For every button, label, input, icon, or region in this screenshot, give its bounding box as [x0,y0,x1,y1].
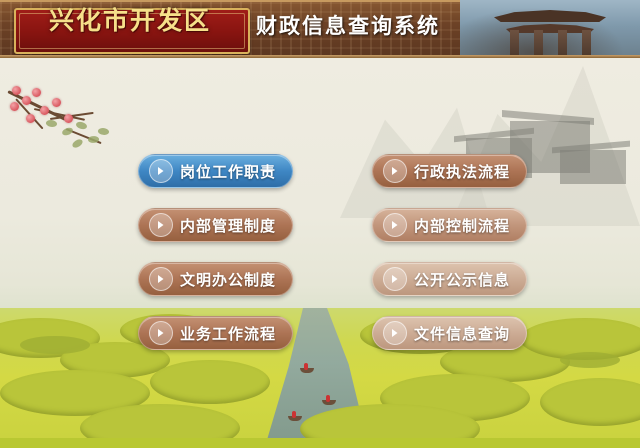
arrow-right-icon [383,159,407,183]
menu-button-business-workflow[interactable]: 业务工作流程 [138,316,293,350]
arrow-right-icon [383,321,407,345]
menu-button-label: 公开公示信息 [414,269,510,290]
arrow-right-icon [383,213,407,237]
menu-button-label: 文明办公制度 [180,269,276,290]
menu-button-internal-control-process[interactable]: 内部控制流程 [372,208,527,242]
page-subtitle: 财政信息查询系统 [256,14,440,38]
menu-button-document-query[interactable]: 文件信息查询 [372,316,527,350]
archway-photo [460,0,640,58]
arrow-right-icon [149,321,173,345]
main-menu: 岗位工作职责 内部管理制度 文明办公制度 业务工作流程 行政执法流程 [0,58,640,448]
page-title: 兴化市开发区 [18,9,242,35]
menu-button-law-enforcement-process[interactable]: 行政执法流程 [372,154,527,188]
menu-button-label: 内部管理制度 [180,215,276,236]
menu-button-label: 文件信息查询 [414,323,510,344]
menu-button-job-duties[interactable]: 岗位工作职责 [138,154,293,188]
arrow-right-icon [149,213,173,237]
menu-button-label: 行政执法流程 [414,161,510,182]
arrow-right-icon [383,267,407,291]
menu-button-office-etiquette[interactable]: 文明办公制度 [138,262,293,296]
menu-button-label: 业务工作流程 [180,323,276,344]
page-header: 兴化市开发区 财政信息查询系统 [0,0,640,58]
menu-button-internal-management[interactable]: 内部管理制度 [138,208,293,242]
arrow-right-icon [149,159,173,183]
menu-button-label: 岗位工作职责 [180,161,276,182]
app-root: 兴化市开发区 财政信息查询系统 岗位工作职责 内部管理制度 文明办公制度 [0,0,640,448]
archway-art [494,8,606,58]
menu-button-label: 内部控制流程 [414,215,510,236]
arrow-right-icon [149,267,173,291]
menu-button-public-disclosure[interactable]: 公开公示信息 [372,262,527,296]
